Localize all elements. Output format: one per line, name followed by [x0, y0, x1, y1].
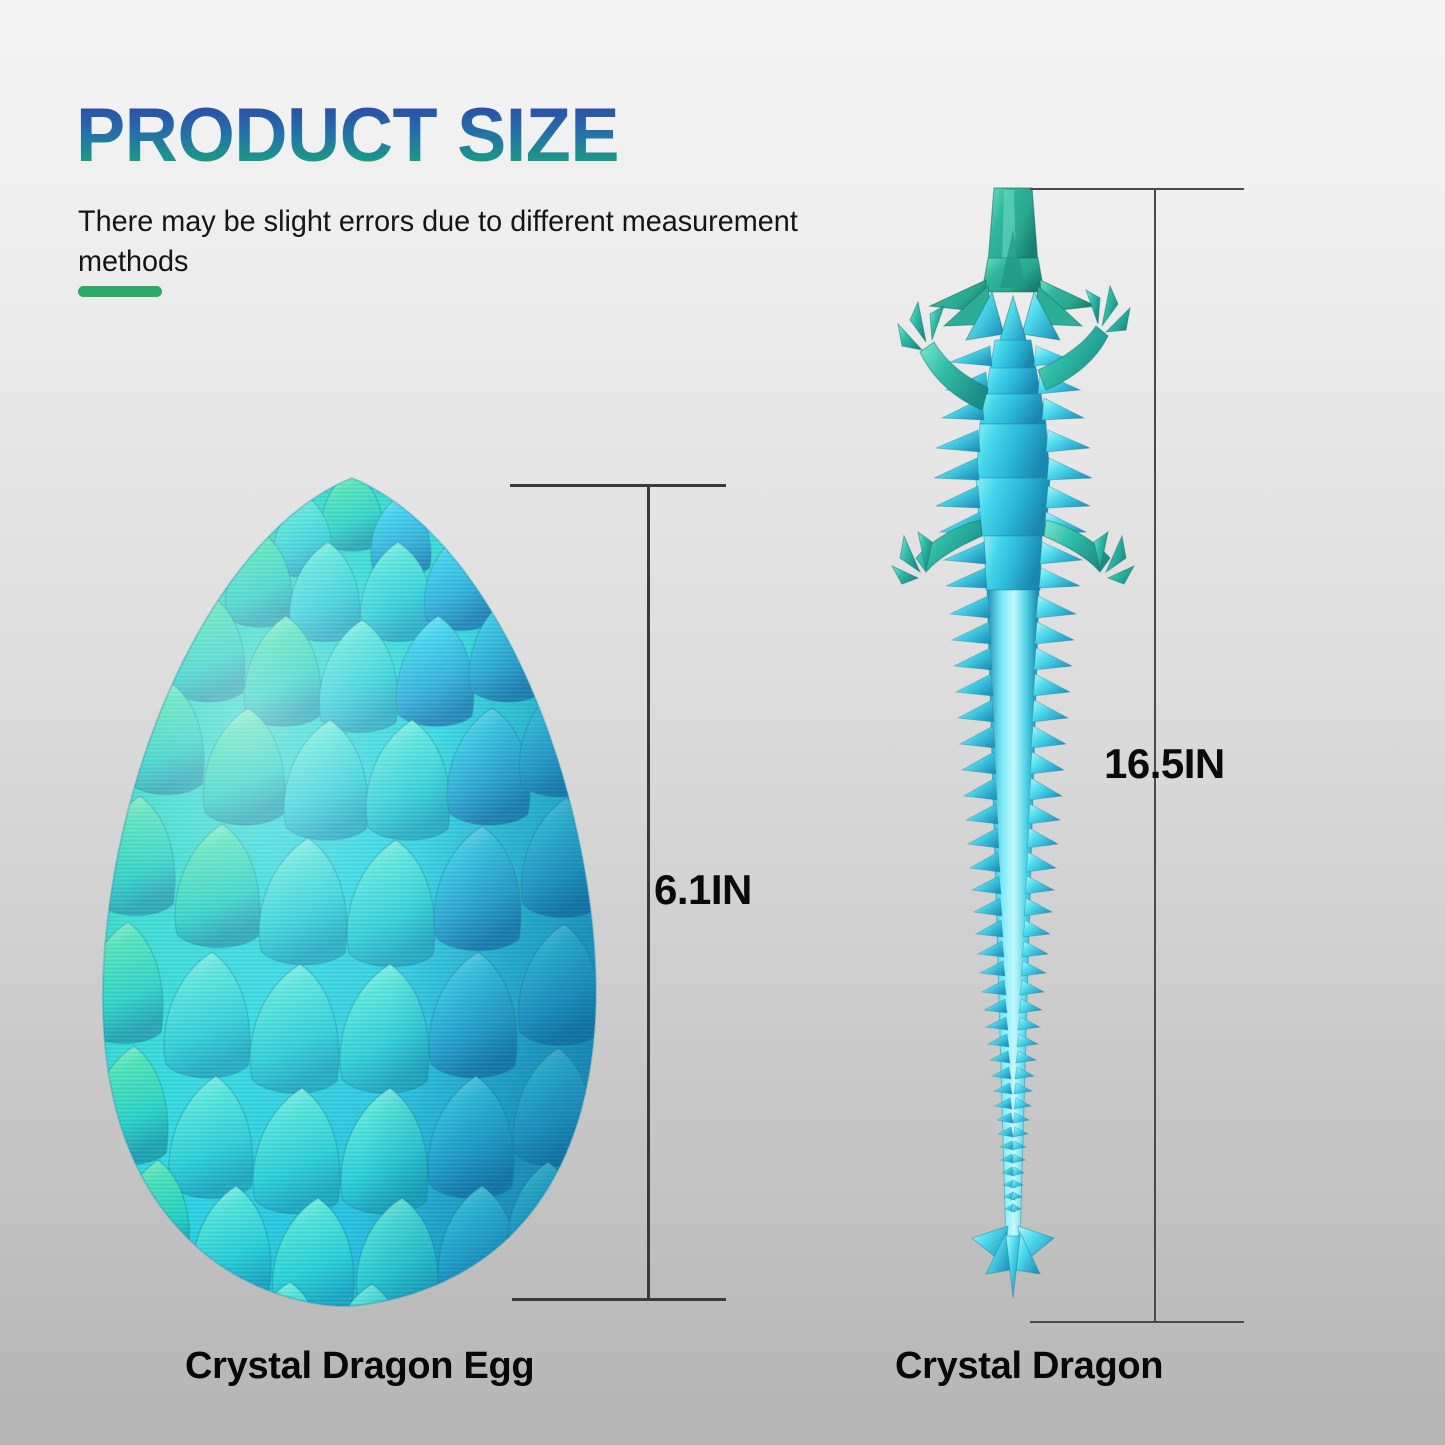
egg-body: [62, 470, 642, 1386]
dragon-dimension-label: 16.5IN: [1104, 740, 1225, 788]
dragon-dimension-top-tick: [1030, 188, 1244, 190]
egg-dimension-top-tick: [510, 484, 726, 487]
accent-bar-icon: [78, 286, 162, 297]
dragon-dimension-bottom-tick: [1030, 1321, 1244, 1323]
dragon-torso: [934, 424, 1092, 536]
crystal-dragon-image: [888, 180, 1138, 1330]
dragon-head: [930, 188, 1096, 346]
egg-dimension-label: 6.1IN: [654, 866, 752, 914]
egg-caption: Crystal Dragon Egg: [185, 1345, 534, 1388]
dragon-caption: Crystal Dragon: [895, 1345, 1163, 1388]
egg-svg: [62, 470, 642, 1310]
dragon-tail: [950, 590, 1076, 1298]
egg-dimension-line: [647, 486, 650, 1298]
dragon-svg: [888, 180, 1138, 1330]
product-size-infographic: PRODUCT SIZE There may be slight errors …: [0, 0, 1445, 1445]
crystal-dragon-egg-image: [62, 470, 642, 1310]
page-title: PRODUCT SIZE: [76, 96, 619, 176]
egg-dimension-bottom-tick: [512, 1298, 726, 1301]
page-subtitle: There may be slight errors due to differ…: [78, 202, 846, 282]
